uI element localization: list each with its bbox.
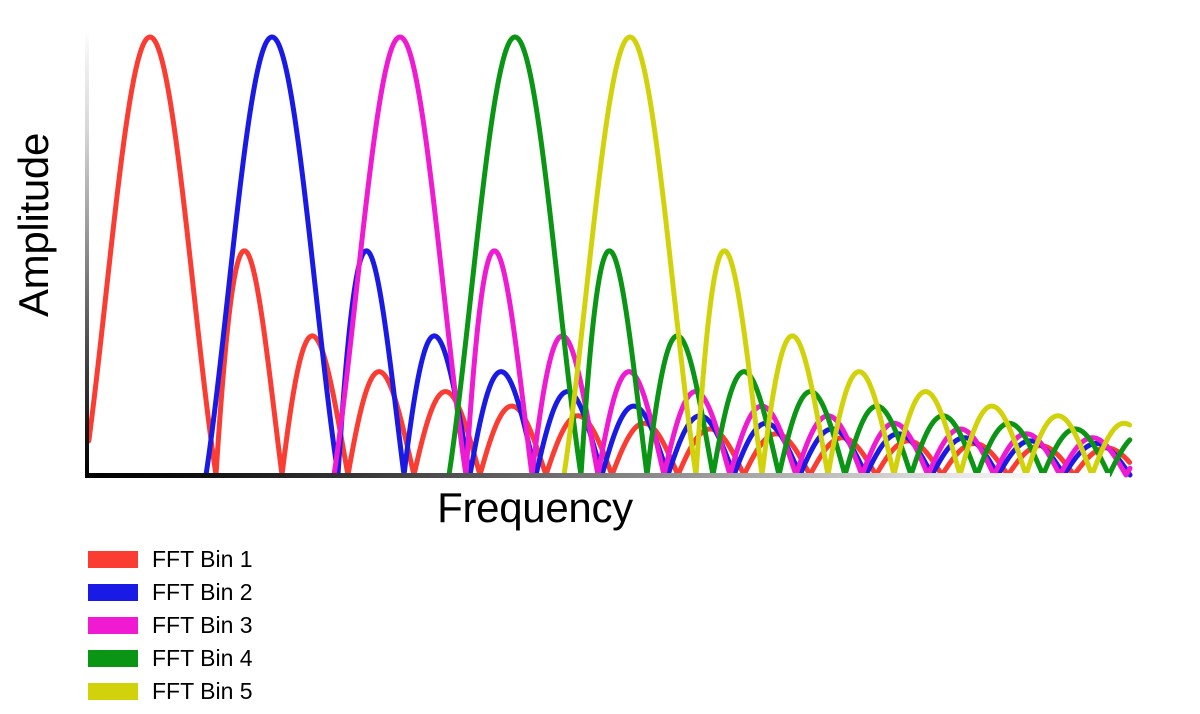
legend-swatch	[88, 650, 138, 667]
legend-item[interactable]: FFT Bin 1	[88, 543, 253, 576]
legend: FFT Bin 1 FFT Bin 2 FFT Bin 3 FFT Bin 4 …	[88, 543, 253, 708]
fft-bin-response-chart: Amplitude Frequency FFT Bin 1 FFT Bin 2 …	[0, 0, 1200, 714]
legend-item-label: FFT Bin 2	[152, 579, 253, 606]
plot-area	[88, 30, 1100, 475]
legend-swatch	[88, 551, 138, 568]
legend-swatch	[88, 617, 138, 634]
legend-item[interactable]: FFT Bin 2	[88, 576, 253, 609]
legend-item[interactable]: FFT Bin 4	[88, 642, 253, 675]
curve-canvas	[88, 30, 1100, 475]
legend-swatch	[88, 683, 138, 700]
legend-item-label: FFT Bin 5	[152, 678, 253, 705]
legend-item-label: FFT Bin 4	[152, 645, 253, 672]
legend-swatch	[88, 584, 138, 601]
legend-item-label: FFT Bin 3	[152, 612, 253, 639]
x-axis-line	[85, 473, 1110, 478]
legend-item-label: FFT Bin 1	[152, 546, 253, 573]
legend-item[interactable]: FFT Bin 5	[88, 675, 253, 708]
x-axis-title: Frequency	[350, 484, 720, 532]
series-paths	[89, 37, 1130, 475]
legend-item[interactable]: FFT Bin 3	[88, 609, 253, 642]
y-axis-line	[85, 30, 89, 477]
y-axis-title: Amplitude	[10, 105, 58, 345]
series-line	[334, 37, 1130, 475]
